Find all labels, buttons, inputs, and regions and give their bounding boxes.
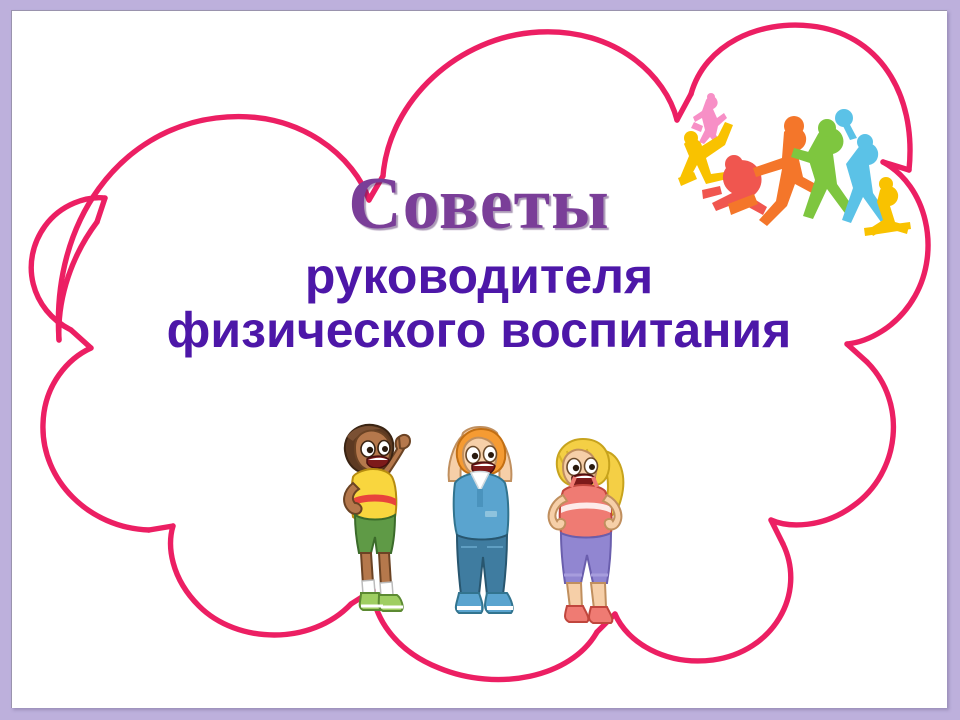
child-boy-side-stretch bbox=[344, 425, 410, 611]
subtitle-line-2: физического воспитания bbox=[11, 305, 947, 355]
child-girl-hands-on-hips bbox=[549, 439, 624, 623]
child-boy-arms-overhead bbox=[449, 427, 513, 613]
slide-frame: Советы руководителя физического воспитан… bbox=[0, 0, 960, 720]
sports-silhouettes-svg bbox=[666, 92, 916, 272]
children-illustration-svg bbox=[333, 415, 663, 645]
sports-silhouettes-collage bbox=[666, 92, 916, 272]
children-illustration-group bbox=[333, 415, 663, 645]
slide-canvas: Советы руководителя физического воспитан… bbox=[11, 10, 947, 708]
